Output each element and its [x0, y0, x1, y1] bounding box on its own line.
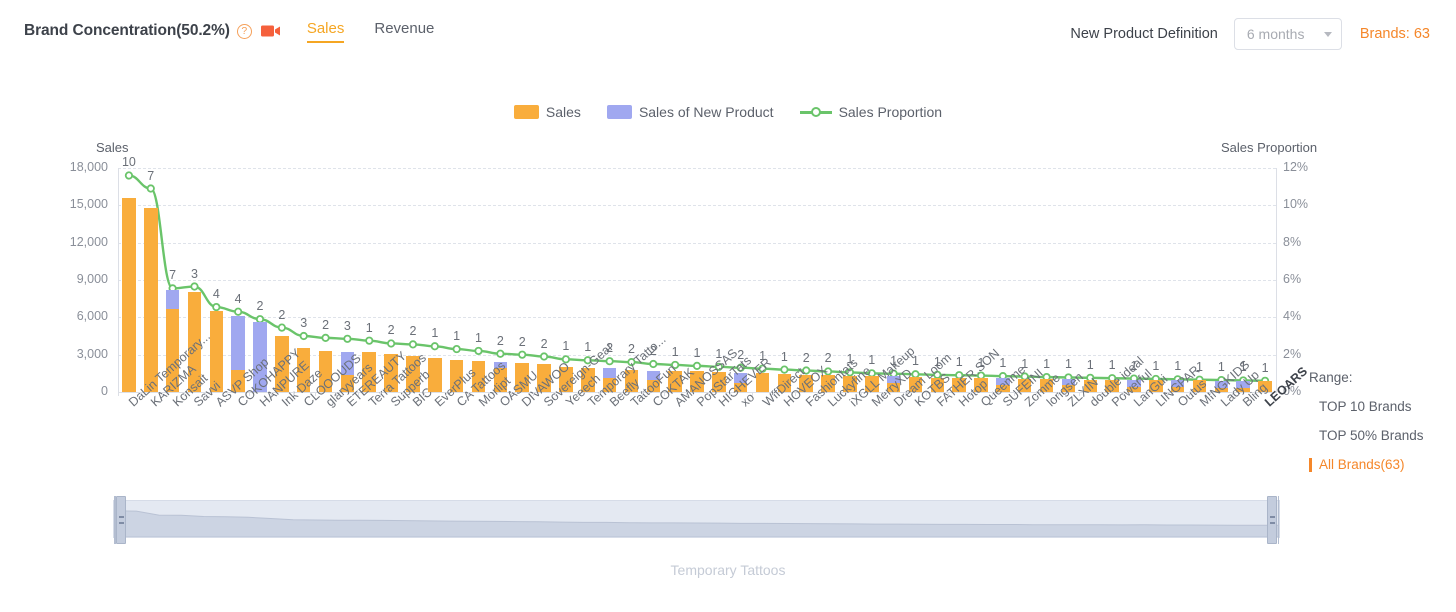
x-tick-mark [948, 392, 949, 396]
x-tick-mark [1254, 392, 1255, 396]
brand-concentration-page: Brand Concentration(50.2%) ? Sales Reven… [0, 0, 1456, 612]
datazoom-footer-label: Temporary Tattoos [0, 562, 1456, 578]
x-tick-mark [1123, 392, 1124, 396]
x-tick-mark [817, 392, 818, 396]
x-tick-mark [773, 392, 774, 396]
x-tick-mark [730, 392, 731, 396]
x-tick-mark [424, 392, 425, 396]
x-tick-mark [336, 392, 337, 396]
x-axis-label[interactable]: LEOARS [1262, 364, 1310, 409]
range-option-top-50-percent[interactable]: TOP 50% Brands [1309, 428, 1424, 443]
x-tick-mark [577, 392, 578, 396]
x-tick-mark [621, 392, 622, 396]
x-tick-mark [140, 392, 141, 396]
x-tick-mark [1101, 392, 1102, 396]
datazoom-bar-right [1278, 496, 1280, 544]
range-panel: Range: TOP 10 Brands TOP 50% Brands All … [1309, 370, 1424, 472]
x-tick-mark [533, 392, 534, 396]
datazoom-preview-area [114, 501, 1279, 537]
x-tick-mark [249, 392, 250, 396]
x-tick-mark [795, 392, 796, 396]
x-tick-mark [599, 392, 600, 396]
x-tick-mark [402, 392, 403, 396]
x-tick-mark [883, 392, 884, 396]
datazoom-slider[interactable] [113, 500, 1280, 538]
x-tick-mark [205, 392, 206, 396]
x-tick-mark [642, 392, 643, 396]
x-tick-mark [970, 392, 971, 396]
datazoom-handle-right[interactable] [1267, 496, 1277, 544]
range-option-all-brands[interactable]: All Brands(63) [1309, 457, 1424, 472]
x-tick-mark [1145, 392, 1146, 396]
range-option-top-10[interactable]: TOP 10 Brands [1309, 399, 1424, 414]
x-tick-mark [1232, 392, 1233, 396]
x-tick-mark [1014, 392, 1015, 396]
datazoom-handle-left[interactable] [116, 496, 126, 544]
x-tick-mark [489, 392, 490, 396]
x-tick-mark [1189, 392, 1190, 396]
x-tick-mark [184, 392, 185, 396]
x-tick-mark [664, 392, 665, 396]
x-tick-mark [839, 392, 840, 396]
x-tick-mark [926, 392, 927, 396]
x-tick-mark [468, 392, 469, 396]
x-tick-mark [271, 392, 272, 396]
x-tick-mark [686, 392, 687, 396]
x-tick-mark [118, 392, 119, 396]
x-tick-mark [555, 392, 556, 396]
x-tick-mark [905, 392, 906, 396]
range-title: Range: [1309, 370, 1424, 385]
x-tick-mark [380, 392, 381, 396]
x-tick-mark [315, 392, 316, 396]
x-tick-mark [511, 392, 512, 396]
x-tick-mark [1036, 392, 1037, 396]
x-tick-mark [1058, 392, 1059, 396]
x-tick-mark [227, 392, 228, 396]
x-tick-mark [293, 392, 294, 396]
x-tick-mark [1210, 392, 1211, 396]
x-tick-mark [752, 392, 753, 396]
x-tick-mark [708, 392, 709, 396]
x-tick-mark [1167, 392, 1168, 396]
x-tick-mark [162, 392, 163, 396]
x-tick-mark [992, 392, 993, 396]
x-tick-mark [358, 392, 359, 396]
x-tick-mark [1079, 392, 1080, 396]
x-tick-mark [446, 392, 447, 396]
x-tick-mark [861, 392, 862, 396]
